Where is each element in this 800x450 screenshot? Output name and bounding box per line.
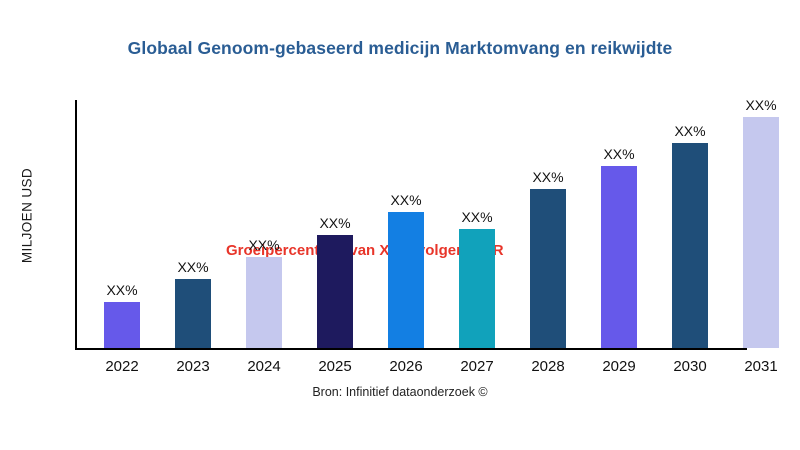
bar-value-label: XX% [658,123,722,139]
chart-page: Globaal Genoom-gebaseerd medicijn Markto… [0,0,800,450]
bar-value-label: XX% [374,192,438,208]
bar-2026[interactable] [388,212,424,348]
x-tick-2024: 2024 [226,358,302,375]
bar-2022[interactable] [104,302,140,348]
bar-value-label: XX% [587,146,651,162]
x-tick-2026: 2026 [368,358,444,375]
bar-value-label: XX% [90,282,154,298]
bar-2028[interactable] [530,189,566,348]
bar-2025[interactable] [317,235,353,348]
bar-2024[interactable] [246,257,282,348]
x-tick-2025: 2025 [297,358,373,375]
y-axis-label: MILJOEN USD [20,106,35,326]
x-tick-2030: 2030 [652,358,728,375]
source-note: Bron: Infinitief dataonderzoek © [0,385,800,399]
y-axis-line [75,100,77,350]
x-tick-2023: 2023 [155,358,231,375]
x-tick-2027: 2027 [439,358,515,375]
bar-value-label: XX% [729,97,793,113]
x-tick-2031: 2031 [723,358,799,375]
page-title: Globaal Genoom-gebaseerd medicijn Markto… [0,38,800,59]
bar-2029[interactable] [601,166,637,348]
x-tick-2029: 2029 [581,358,657,375]
bar-2030[interactable] [672,143,708,348]
bar-value-label: XX% [303,215,367,231]
bar-value-label: XX% [161,259,225,275]
bar-2023[interactable] [175,279,211,348]
bar-value-label: XX% [516,169,580,185]
x-tick-2022: 2022 [84,358,160,375]
bar-value-label: XX% [445,209,509,225]
bar-value-label: XX% [232,237,296,253]
plot-area: Groeipercentage van XX% volgens IDR XX% … [75,100,785,350]
bar-2027[interactable] [459,229,495,348]
bar-2031[interactable] [743,117,779,348]
x-tick-2028: 2028 [510,358,586,375]
x-axis-line [75,348,747,350]
